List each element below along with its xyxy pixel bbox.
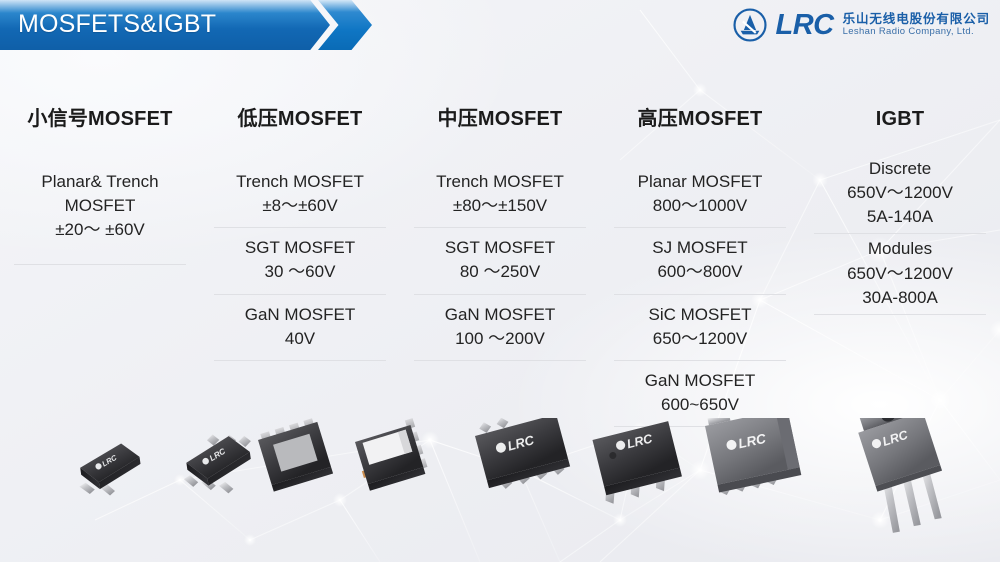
entry-name: GaN MOSFET bbox=[414, 303, 586, 327]
product-entry: SGT MOSFET 30 ～60V bbox=[214, 228, 386, 294]
column-header: 小信号MOSFET bbox=[14, 108, 186, 130]
logo-wordmark: LRC bbox=[775, 11, 833, 40]
product-entry: Planar& Trench MOSFET ±20～ ±60V bbox=[14, 162, 186, 265]
entry-list: Planar& Trench MOSFET ±20～ ±60V bbox=[14, 162, 186, 265]
category-column-small-signal-mosfet: 小信号MOSFET Planar& Trench MOSFET ±20～ ±60… bbox=[0, 108, 200, 428]
product-entry: Trench MOSFET ±8～±60V bbox=[214, 162, 386, 228]
entry-range: 100 ～200V bbox=[414, 327, 586, 351]
package-sop8: LRC bbox=[472, 418, 571, 493]
entry-name: SJ MOSFET bbox=[614, 236, 786, 260]
product-category-columns: 小信号MOSFET Planar& Trench MOSFET ±20～ ±60… bbox=[0, 108, 1000, 428]
column-header: 低压MOSFET bbox=[214, 108, 386, 130]
product-entry: Planar MOSFET 800～1000V bbox=[614, 162, 786, 228]
category-column-igbt: IGBT Discrete 650V～1200V 5A-140A Modules… bbox=[800, 108, 1000, 428]
package-photos-svg: LRC LRC bbox=[0, 418, 1000, 562]
entry-range: ±80～±150V bbox=[414, 194, 586, 218]
entry-current-range: 5A-140A bbox=[814, 205, 986, 229]
entry-list: Discrete 650V～1200V 5A-140A Modules 650V… bbox=[814, 154, 986, 315]
entry-range: ±8～±60V bbox=[214, 194, 386, 218]
product-entry: GaN MOSFET 100 ～200V bbox=[414, 295, 586, 361]
lrc-logo-mark-icon bbox=[732, 7, 768, 43]
entry-range: 40V bbox=[214, 327, 386, 351]
package-sot23: LRC bbox=[71, 440, 147, 503]
entry-name: Trench MOSFET bbox=[214, 170, 386, 194]
entry-range: 650V～1200V bbox=[814, 181, 986, 205]
entry-range: 650V～1200V bbox=[814, 262, 986, 286]
category-column-low-voltage-mosfet: 低压MOSFET Trench MOSFET ±8～±60V SGT MOSFE… bbox=[200, 108, 400, 428]
entry-name: Discrete bbox=[814, 157, 986, 181]
product-entry: SiC MOSFET 650～1200V bbox=[614, 295, 786, 361]
entry-list: Planar MOSFET 800～1000V SJ MOSFET 600～80… bbox=[614, 162, 786, 427]
package-d2pak: LRC bbox=[704, 418, 803, 496]
entry-name: Modules bbox=[814, 237, 986, 261]
entry-name-line2: MOSFET bbox=[14, 194, 186, 218]
entry-range: ±20～ ±60V bbox=[14, 218, 186, 242]
entry-range: 600～800V bbox=[614, 260, 786, 284]
product-entry: SGT MOSFET 80 ～250V bbox=[414, 228, 586, 294]
entry-range: 600~650V bbox=[614, 393, 786, 417]
package-dfn-white bbox=[351, 418, 429, 491]
product-entry: Trench MOSFET ±80～±150V bbox=[414, 162, 586, 228]
entry-name: Planar MOSFET bbox=[614, 170, 786, 194]
product-entry: Modules 650V～1200V 30A-800A bbox=[814, 234, 986, 314]
entry-name: GaN MOSFET bbox=[214, 303, 386, 327]
entry-name: Trench MOSFET bbox=[414, 170, 586, 194]
page-header-banner: MOSFETS&IGBT bbox=[0, 0, 372, 50]
product-entry: SJ MOSFET 600～800V bbox=[614, 228, 786, 294]
product-entry: Discrete 650V～1200V 5A-140A bbox=[814, 154, 986, 234]
entry-range: 650～1200V bbox=[614, 327, 786, 351]
package-sot26: LRC bbox=[174, 425, 263, 504]
column-header: IGBT bbox=[814, 108, 986, 130]
company-name-cn: 乐山无线电股份有限公司 bbox=[843, 13, 990, 26]
entry-name: SGT MOSFET bbox=[214, 236, 386, 260]
package-photos-row: LRC LRC bbox=[0, 418, 1000, 562]
entry-name: SGT MOSFET bbox=[414, 236, 586, 260]
entry-range: 30 ～60V bbox=[214, 260, 386, 284]
category-column-medium-voltage-mosfet: 中压MOSFET Trench MOSFET ±80～±150V SGT MOS… bbox=[400, 108, 600, 428]
column-header: 高压MOSFET bbox=[614, 108, 786, 130]
entry-name: SiC MOSFET bbox=[614, 303, 786, 327]
product-entry: GaN MOSFET 40V bbox=[214, 295, 386, 361]
package-dpak: LRC bbox=[591, 421, 685, 505]
entry-name: Planar& Trench bbox=[14, 170, 186, 194]
entry-list: Trench MOSFET ±80～±150V SGT MOSFET 80 ～2… bbox=[414, 162, 586, 361]
package-dfn-black bbox=[257, 418, 334, 492]
entry-list: Trench MOSFET ±8～±60V SGT MOSFET 30 ～60V… bbox=[214, 162, 386, 361]
company-name-block: 乐山无线电股份有限公司 Leshan Radio Company, Ltd. bbox=[843, 13, 990, 37]
entry-name: GaN MOSFET bbox=[614, 369, 786, 393]
column-header: 中压MOSFET bbox=[414, 108, 586, 130]
package-to220f: LRC bbox=[854, 418, 956, 534]
entry-range: 800～1000V bbox=[614, 194, 786, 218]
entry-range: 80 ～250V bbox=[414, 260, 586, 284]
page-title: MOSFETS&IGBT bbox=[18, 0, 216, 50]
company-logo: LRC 乐山无线电股份有限公司 Leshan Radio Company, Lt… bbox=[732, 5, 990, 45]
company-name-en: Leshan Radio Company, Ltd. bbox=[843, 27, 990, 37]
entry-current-range: 30A-800A bbox=[814, 286, 986, 310]
category-column-high-voltage-mosfet: 高压MOSFET Planar MOSFET 800～1000V SJ MOSF… bbox=[600, 108, 800, 428]
